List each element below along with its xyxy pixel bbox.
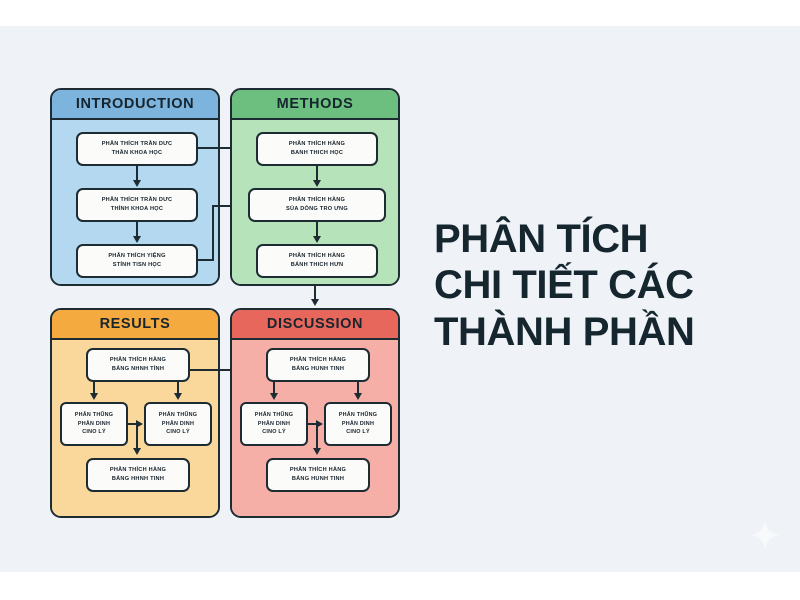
node-results-3[interactable]: PHÂN THŨNG PHÂN DINH CINO LÝ: [144, 402, 212, 446]
arrowhead-down: [174, 393, 182, 400]
node-line: PHÂN THŨNG: [159, 411, 197, 419]
node-line: PHÂN DINH: [342, 420, 374, 428]
arrowhead-down: [313, 236, 321, 243]
node-results-1[interactable]: PHÂN THÍCH HÀNG BẢNG NHNH TÍNH: [86, 348, 190, 382]
panel-methods-title: METHODS: [232, 90, 398, 120]
node-introduction-3[interactable]: PHÂN THÍCH YIỆNG STÍNH TISN HỌC: [76, 244, 198, 278]
panel-discussion[interactable]: DISCUSSION PHÂN THÍCH HÀNG BẢNG HUNH TIN…: [230, 308, 400, 518]
node-line: PHÂN THÍCH TRẦN DƯC: [102, 140, 173, 149]
node-line: BẢNG HUNH TINH: [292, 365, 344, 374]
node-line: PHÂN THÍCH HÀNG: [290, 466, 346, 475]
node-line: CINO LÝ: [262, 428, 286, 436]
node-methods-2[interactable]: PHÂN THÍCH HÀNG SỦA DÒNG TRO ƯNG: [248, 188, 386, 222]
panel-results-title: RESULTS: [52, 310, 218, 340]
panel-results-body: PHÂN THÍCH HÀNG BẢNG NHNH TÍNH PHÂN THŨN…: [52, 340, 218, 516]
node-line: PHÂN THŨNG: [339, 411, 377, 419]
headline-line-1: PHÂN TÍCH: [434, 216, 774, 262]
node-line: PHÂN THÍCH HÀNG: [289, 252, 345, 261]
arrowhead-down: [133, 180, 141, 187]
arrowhead-down: [133, 448, 141, 455]
arrowhead-down: [133, 236, 141, 243]
sparkle-icon: [748, 518, 782, 552]
panel-discussion-body: PHÂN THÍCH HÀNG BẢNG HUNH TINH PHÂN THŨN…: [232, 340, 398, 516]
connector-discussion-to-bottom-v: [316, 423, 318, 449]
node-line: PHÂN THÍCH TRẦN DƯC: [102, 196, 173, 205]
arrowhead-down: [311, 299, 319, 306]
connector-results-to-bottom-v: [136, 423, 138, 449]
panel-results[interactable]: RESULTS PHÂN THÍCH HÀNG BẢNG NHNH TÍNH P…: [50, 308, 220, 518]
node-line: PHÂN THÍCH HÀNG: [289, 196, 345, 205]
headline: PHÂN TÍCH CHI TIẾT CÁC THÀNH PHẦN: [434, 216, 774, 355]
node-line: PHÂN THÍCH HÀNG: [110, 356, 166, 365]
node-results-2[interactable]: PHÂN THŨNG PHÂN DINH CINO LÝ: [60, 402, 128, 446]
node-introduction-1[interactable]: PHÂN THÍCH TRẦN DƯC THẦN KHOA HỌC: [76, 132, 198, 166]
connector-intro3-seg-v: [212, 205, 214, 261]
node-discussion-1[interactable]: PHÂN THÍCH HÀNG BẢNG HUNH TINH: [266, 348, 370, 382]
panel-methods-body: PHÂN THÍCH HÀNG BANH THICH HỌC PHÂN THÍC…: [232, 120, 398, 284]
node-discussion-4[interactable]: PHÂN THÍCH HÀNG BẢNG HUNH TINH: [266, 458, 370, 492]
node-line: STÍNH TISN HỌC: [113, 261, 162, 270]
node-line: PHÂN THÍCH YIỆNG: [108, 252, 165, 261]
node-line: PHÂN THŨNG: [255, 411, 293, 419]
panel-introduction[interactable]: INTRODUCTION PHÂN THÍCH TRẦN DƯC THẦN KH…: [50, 88, 220, 286]
node-methods-3[interactable]: PHÂN THÍCH HÀNG BÁNH THICH HƯN: [256, 244, 378, 278]
headline-line-3: THÀNH PHẦN: [434, 309, 774, 355]
top-white-band: [0, 0, 800, 26]
node-line: BẢNG NHNH TÍNH: [112, 365, 164, 374]
panel-introduction-body: PHÂN THÍCH TRẦN DƯC THẦN KHOA HỌC PHÂN T…: [52, 120, 218, 284]
arrowhead-down: [313, 180, 321, 187]
node-results-4[interactable]: PHÂN THÍCH HÀNG BẢNG HHNH TINH: [86, 458, 190, 492]
node-line: PHÂN THŨNG: [75, 411, 113, 419]
node-line: PHÂN DINH: [258, 420, 290, 428]
diagram-canvas: INTRODUCTION PHÂN THÍCH TRẦN DƯC THẦN KH…: [0, 0, 800, 600]
panel-methods[interactable]: METHODS PHÂN THÍCH HÀNG BANH THICH HỌC P…: [230, 88, 400, 286]
bottom-white-band: [0, 572, 800, 600]
node-methods-1[interactable]: PHÂN THÍCH HÀNG BANH THICH HỌC: [256, 132, 378, 166]
arrowhead-down: [313, 448, 321, 455]
node-line: PHÂN THÍCH HÀNG: [110, 466, 166, 475]
panel-introduction-title: INTRODUCTION: [52, 90, 218, 120]
panel-discussion-title: DISCUSSION: [232, 310, 398, 340]
arrowhead-down: [354, 393, 362, 400]
node-line: THỈNH KHOA HỌC: [111, 205, 163, 214]
node-line: PHÂN THÍCH HÀNG: [290, 356, 346, 365]
headline-line-2: CHI TIẾT CÁC: [434, 262, 774, 308]
node-line: PHÂN DINH: [78, 420, 110, 428]
arrowhead-down: [90, 393, 98, 400]
node-line: BÁNH THICH HƯN: [291, 261, 344, 270]
node-line: CINO LÝ: [166, 428, 190, 436]
node-line: SỦA DÒNG TRO ƯNG: [286, 205, 348, 214]
node-line: PHÂN DINH: [162, 420, 194, 428]
node-line: CINO LÝ: [82, 428, 106, 436]
node-introduction-2[interactable]: PHÂN THÍCH TRẦN DƯC THỈNH KHOA HỌC: [76, 188, 198, 222]
node-line: CINO LÝ: [346, 428, 370, 436]
node-line: BANH THICH HỌC: [291, 149, 343, 158]
node-line: PHÂN THÍCH HÀNG: [289, 140, 345, 149]
node-discussion-2[interactable]: PHÂN THŨNG PHÂN DINH CINO LÝ: [240, 402, 308, 446]
node-discussion-3[interactable]: PHÂN THŨNG PHÂN DINH CINO LÝ: [324, 402, 392, 446]
node-line: BẢNG HHNH TINH: [112, 475, 164, 484]
arrowhead-down: [270, 393, 278, 400]
node-line: THẦN KHOA HỌC: [112, 149, 163, 158]
node-line: BẢNG HUNH TINH: [292, 475, 344, 484]
